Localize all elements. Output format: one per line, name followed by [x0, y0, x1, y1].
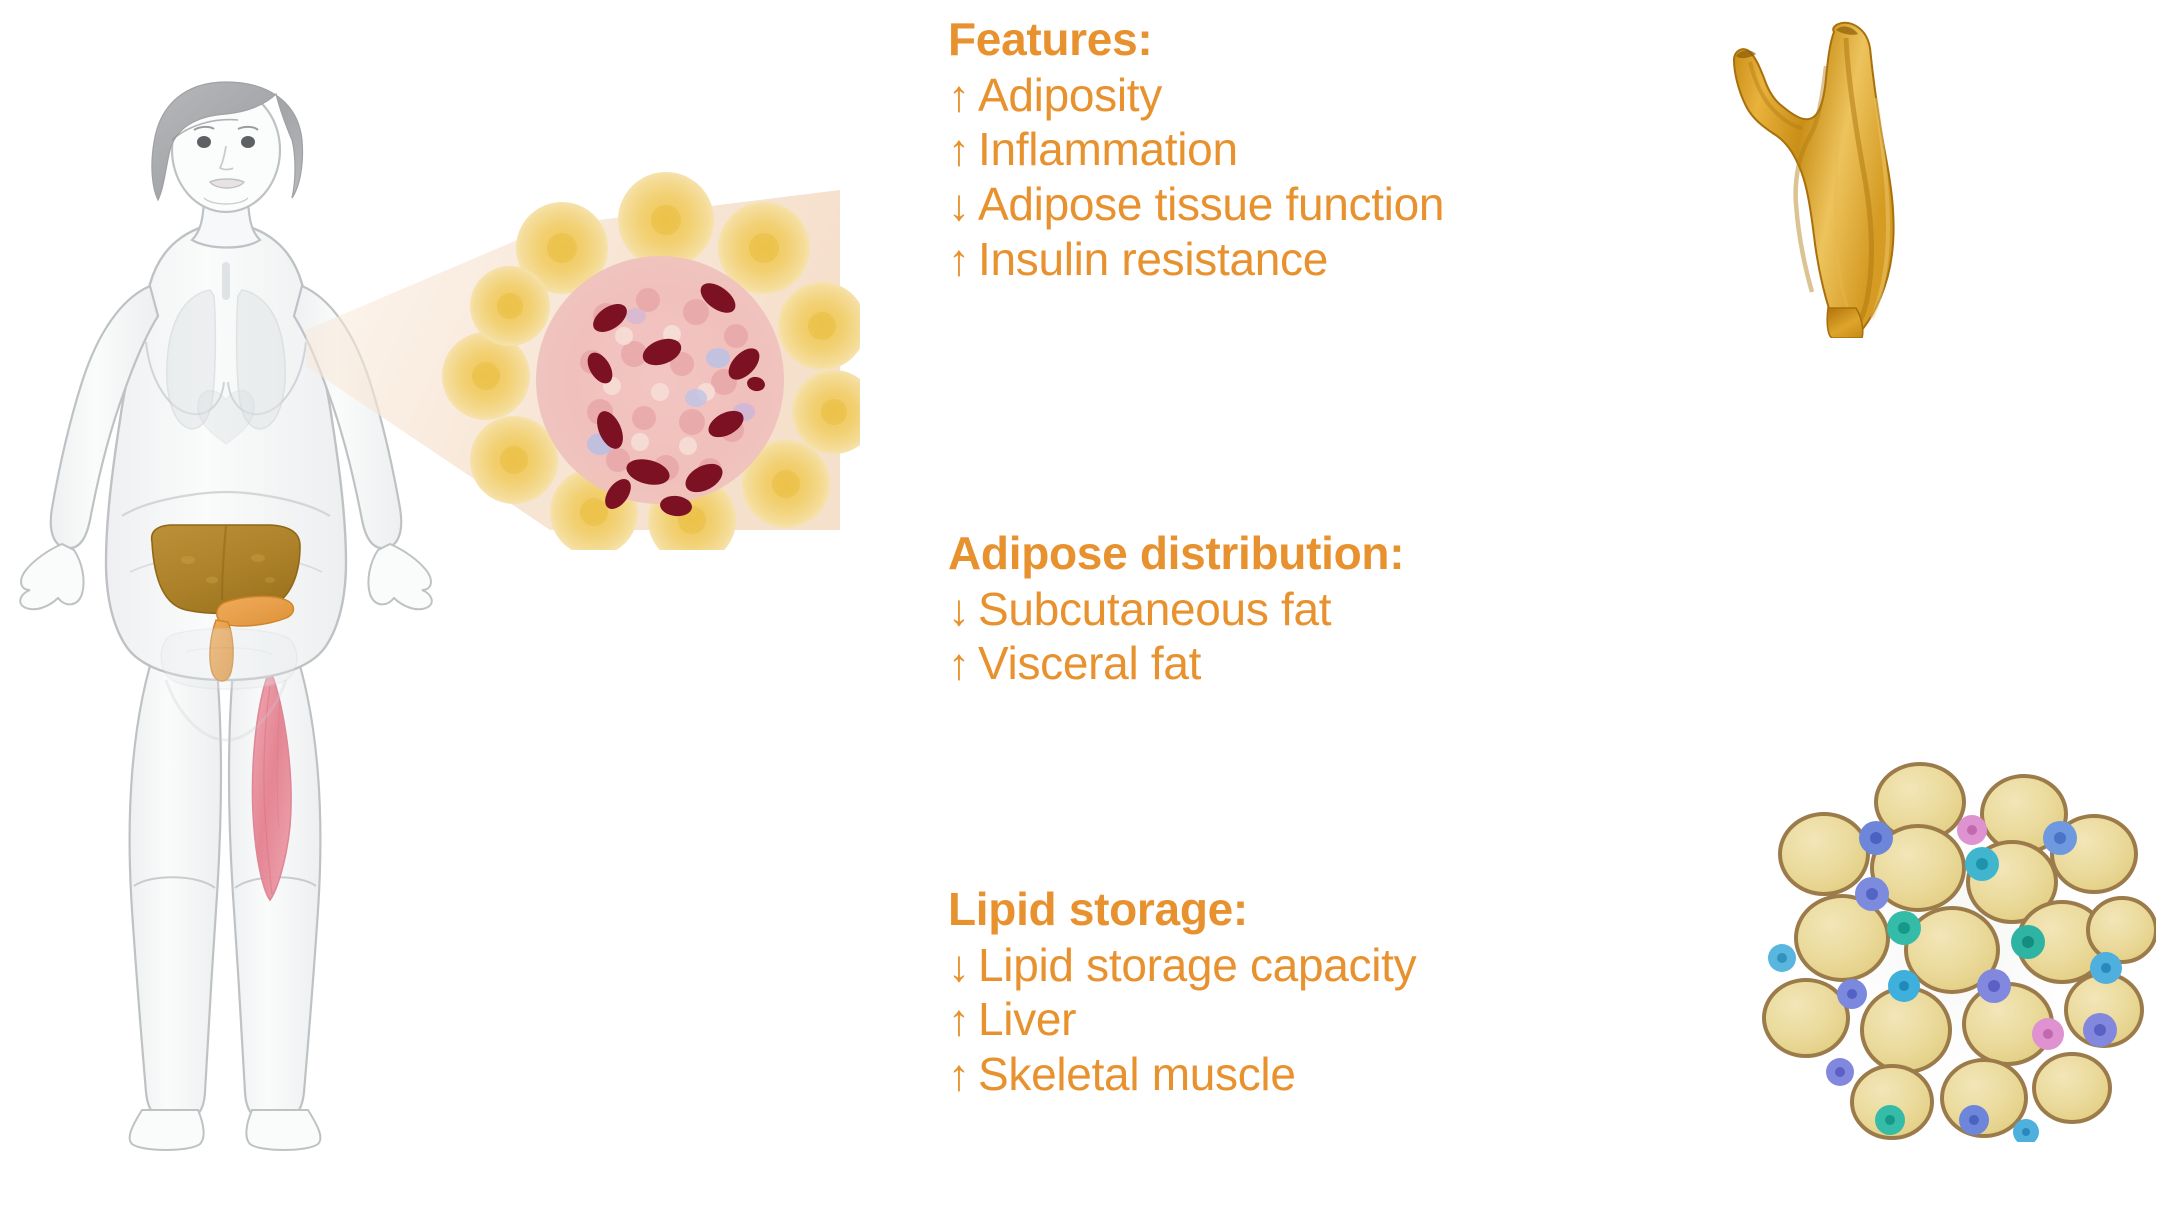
body-legs: [130, 640, 321, 1150]
ectopic-lipid-deposit: [1676, 8, 2036, 338]
ectopic-lipid-deposit-panel: [1676, 8, 2036, 338]
features-heading: Features:: [948, 14, 1688, 66]
text-block-features: Features: ↑ Adiposity ↑ Inflammation ↓ A…: [948, 14, 1688, 286]
list-item-subcutaneous-fat: ↓ Subcutaneous fat: [948, 582, 1688, 637]
arrow-up-icon: ↑: [948, 999, 978, 1043]
list-item-lipid-storage-capacity: ↓ Lipid storage capacity: [948, 938, 1688, 993]
list-item-inflammation: ↑ Inflammation: [948, 122, 1688, 177]
inflamed-adipose-tissue-cluster: [300, 130, 860, 550]
list-item-label: Inflammation: [978, 122, 1238, 177]
arrow-up-icon: ↑: [948, 643, 978, 687]
arrow-down-icon: ↓: [948, 184, 978, 228]
list-item-label: Lipid storage capacity: [978, 938, 1416, 993]
list-item-visceral-fat: ↑ Visceral fat: [948, 636, 1688, 691]
list-item-adipose-tissue-function: ↓ Adipose tissue function: [948, 177, 1688, 232]
list-item-insulin-resistance: ↑ Insulin resistance: [948, 232, 1688, 287]
list-item-label: Adiposity: [978, 68, 1162, 123]
arrow-down-icon: ↓: [948, 589, 978, 633]
adipose-tissue-cluster: [1756, 742, 2156, 1142]
list-item-liver: ↑ Liver: [948, 992, 1688, 1047]
list-item-label: Subcutaneous fat: [978, 582, 1331, 637]
lipid-storage-heading: Lipid storage:: [948, 884, 1688, 936]
arrow-down-icon: ↓: [948, 945, 978, 989]
list-item-label: Adipose tissue function: [978, 177, 1444, 232]
text-block-adipose-distribution: Adipose distribution: ↓ Subcutaneous fat…: [948, 528, 1688, 691]
list-item-skeletal-muscle: ↑ Skeletal muscle: [948, 1047, 1688, 1102]
lipid-storage-list: ↓ Lipid storage capacity ↑ Liver ↑ Skele…: [948, 938, 1688, 1102]
list-item-label: Visceral fat: [978, 636, 1201, 691]
figure-root: Features: ↑ Adiposity ↑ Inflammation ↓ A…: [0, 0, 2165, 1208]
arrow-up-icon: ↑: [948, 129, 978, 173]
list-item-adiposity: ↑ Adiposity: [948, 68, 1688, 123]
adipocytes: [1764, 764, 2156, 1138]
inflamed-adipose-cluster-panel: [300, 130, 860, 550]
text-block-lipid-storage: Lipid storage: ↓ Lipid storage capacity …: [948, 884, 1688, 1102]
arrow-up-icon: ↑: [948, 1054, 978, 1098]
list-item-label: Insulin resistance: [978, 232, 1328, 287]
arrow-up-icon: ↑: [948, 239, 978, 283]
adipose-distribution-list: ↓ Subcutaneous fat ↑ Visceral fat: [948, 582, 1688, 691]
intestines: [161, 629, 297, 689]
text-column: Features: ↑ Adiposity ↑ Inflammation ↓ A…: [948, 0, 1688, 1208]
features-list: ↑ Adiposity ↑ Inflammation ↓ Adipose tis…: [948, 68, 1688, 287]
head: [152, 82, 303, 212]
adipose-tissue-cluster-panel: [1756, 742, 2156, 1142]
adipose-distribution-heading: Adipose distribution:: [948, 528, 1688, 580]
arrow-up-icon: ↑: [948, 75, 978, 119]
list-item-label: Liver: [978, 992, 1076, 1047]
list-item-label: Skeletal muscle: [978, 1047, 1296, 1102]
